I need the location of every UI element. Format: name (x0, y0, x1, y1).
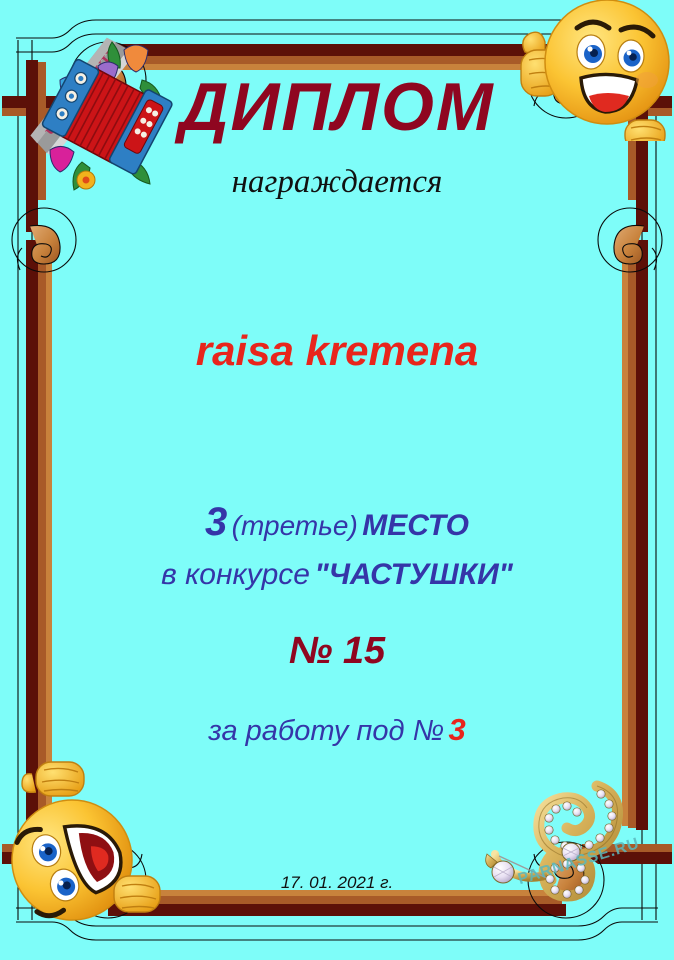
page-title: ДИПЛОМ (0, 68, 674, 146)
work-number: 3 (448, 712, 465, 747)
place-line: 3 (третье) МЕСТО (0, 500, 674, 545)
certificate-content: ДИПЛОМ награждается raisa kremena 3 (тре… (0, 0, 674, 960)
contest-line: в конкурсе "ЧАСТУШКИ" (0, 558, 674, 592)
issue-date: 17. 01. 2021 г. (0, 873, 674, 893)
work-lead: за работу под № (208, 715, 444, 747)
awarded-to-label: награждается (0, 164, 674, 201)
certificate-page: ЧАСТУШКИ (0, 0, 674, 960)
contest-name: ЧАСТУШКИ (329, 558, 499, 591)
contest-lead: в конкурсе (161, 558, 310, 591)
issue-number: № 15 (0, 630, 674, 673)
work-line: за работу под № 3 (0, 712, 674, 748)
place-parenthetical: (третье) (232, 510, 358, 541)
place-word: МЕСТО (362, 509, 469, 542)
contest-open-quote: " (314, 558, 328, 591)
place-number: 3 (205, 500, 227, 544)
contest-close-quote: " (499, 558, 513, 591)
recipient-name: raisa kremena (0, 327, 674, 375)
